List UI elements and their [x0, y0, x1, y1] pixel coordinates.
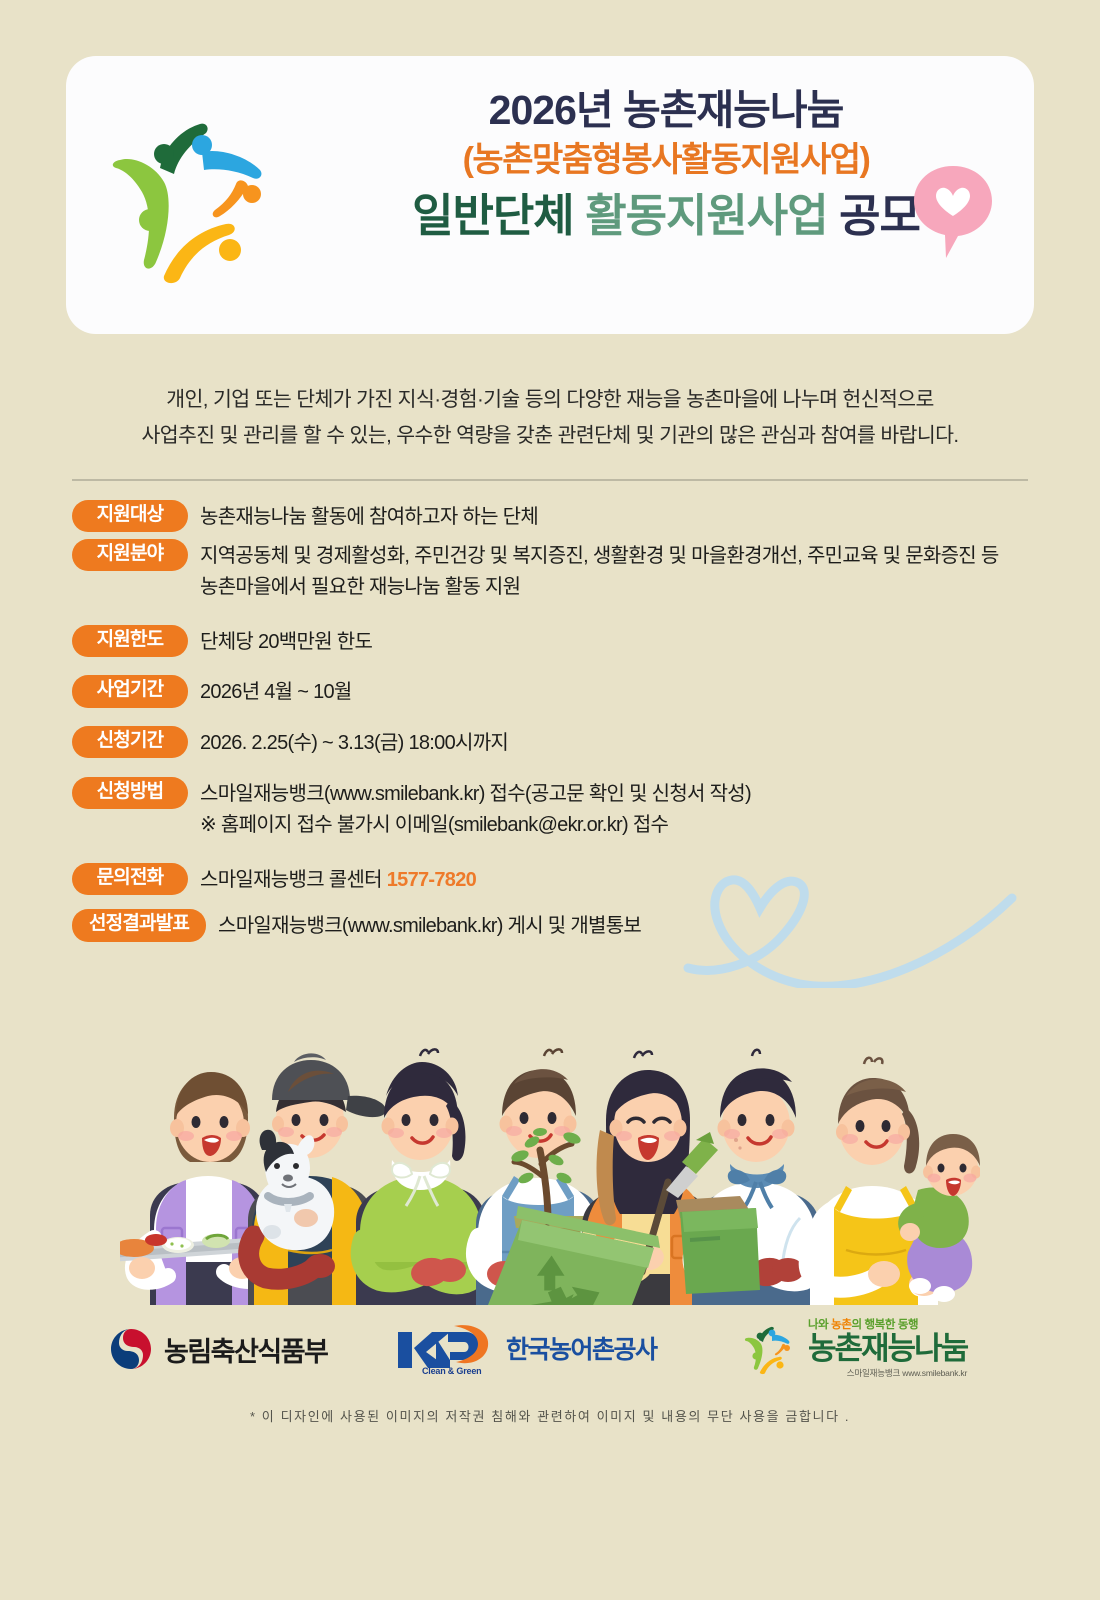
row-limit-text: 단체당 20백만원 한도 — [200, 625, 372, 658]
intro-line-2: 사업추진 및 관리를 할 수 있는, 우수한 역량을 갖춘 관련단체 및 기관의… — [80, 418, 1020, 454]
smile-logo-text-group: 나와 농촌의 행복한 동행 농촌재능나눔 스마일재능뱅크 www.smileba… — [808, 1316, 967, 1379]
smile-tagline-pre: 나와 — [808, 1319, 831, 1331]
star-people-icon — [742, 1317, 804, 1379]
title-line-2: (농촌맞춤형봉사활동지원사업) — [316, 136, 1016, 185]
badge-limit: 지원한도 — [72, 625, 188, 657]
row-apply-period: 신청기간 2026. 2.25(수) ~ 3.13(금) 18:00시까지 — [72, 726, 1032, 759]
badge-contact: 문의전화 — [72, 863, 188, 895]
divider — [72, 479, 1028, 481]
row-contact-prefix: 스마일재능뱅크 콜센터 — [200, 869, 387, 891]
badge-apply-method: 신청방법 — [72, 777, 188, 809]
title-line-3-part-1: 일반단체 — [412, 190, 574, 241]
header-card: 2026년 농촌재능나눔 (농촌맞춤형봉사활동지원사업) 일반단체 활동지원사업… — [66, 56, 1034, 334]
cardboard-bin — [676, 1196, 760, 1294]
row-field-text: 지역공동체 및 경제활성화, 주민건강 및 복지증진, 생활환경 및 마을환경개… — [200, 539, 999, 603]
row-apply-method-line-2: ※ 홈페이지 접수 불가시 이메일(smilebank@ekr.or.kr) 접… — [200, 811, 751, 841]
heart-speech-bubble-icon — [912, 164, 994, 260]
row-contact-text: 스마일재능뱅크 콜센터 1577-7820 — [200, 863, 476, 896]
contact-phone-number[interactable]: 1577-7820 — [387, 869, 476, 891]
smile-name: 농촌재능나눔 — [808, 1333, 967, 1364]
badge-period: 사업기간 — [72, 675, 188, 707]
logo-ekr: Clean & Green 한국농어촌공사 — [392, 1318, 657, 1378]
disclaimer-text: * 이 디자인에 사용된 이미지의 저작권 침해와 관련하여 이미지 및 내용의… — [0, 1406, 1100, 1425]
volunteer-group-illustration — [120, 1000, 980, 1305]
row-apply-method-line-1: 스마일재능뱅크(www.smilebank.kr) 접수(공고문 확인 및 신청… — [200, 783, 751, 805]
star-people-icon — [102, 90, 310, 298]
row-apply-method-text: 스마일재능뱅크(www.smilebank.kr) 접수(공고문 확인 및 신청… — [200, 777, 751, 841]
hand-drawn-heart-line-icon — [660, 858, 1020, 988]
ekr-name: 한국농어촌공사 — [506, 1330, 657, 1366]
kr-mark-icon: Clean & Green — [392, 1318, 498, 1378]
taegeuk-mark-icon — [108, 1326, 154, 1372]
row-period: 사업기간 2026년 4월 ~ 10월 — [72, 675, 1032, 708]
row-target: 지원대상 농촌재능나눔 활동에 참여하고자 하는 단체 — [72, 500, 1032, 533]
row-result-text: 스마일재능뱅크(www.smilebank.kr) 게시 및 개별통보 — [218, 909, 641, 942]
row-limit: 지원한도 단체당 20백만원 한도 — [72, 625, 1032, 658]
intro-line-1: 개인, 기업 또는 단체가 가진 지식·경험·기술 등의 다양한 재능을 농촌마… — [80, 382, 1020, 418]
row-apply-method: 신청방법 스마일재능뱅크(www.smilebank.kr) 접수(공고문 확인… — [72, 777, 1032, 841]
title-line-3-part-2: 활동지원사업 — [585, 190, 827, 241]
logo-smile-talent-bank: 나와 농촌의 행복한 동행 농촌재능나눔 스마일재능뱅크 www.smileba… — [742, 1316, 967, 1379]
ekr-tagline: Clean & Green — [422, 1366, 481, 1376]
footer-logos: 농림축산식품부 Clean & Green 한국농어촌공사 — [0, 1318, 1100, 1418]
badge-field: 지원분야 — [72, 539, 188, 571]
row-field-line-1: 지역공동체 및 경제활성화, 주민건강 및 복지증진, 생활환경 및 마을환경개… — [200, 545, 999, 567]
title-line-3-part-3: 공모 — [839, 190, 920, 241]
header-title-block: 2026년 농촌재능나눔 (농촌맞춤형봉사활동지원사업) 일반단체 활동지원사업… — [316, 84, 1016, 245]
smile-tagline: 나와 농촌의 행복한 동행 — [808, 1316, 967, 1332]
intro-paragraph: 개인, 기업 또는 단체가 가진 지식·경험·기술 등의 다양한 재능을 농촌마… — [80, 382, 1020, 454]
row-target-text: 농촌재능나눔 활동에 참여하고자 하는 단체 — [200, 500, 538, 533]
logo-mafra: 농림축산식품부 — [108, 1326, 327, 1372]
smile-url: 스마일재능뱅크 www.smilebank.kr — [808, 1367, 967, 1379]
figure-3 — [356, 1049, 486, 1305]
mafra-name: 농림축산식품부 — [164, 1330, 327, 1369]
title-line-1: 2026년 농촌재능나눔 — [316, 84, 1016, 136]
row-apply-period-text: 2026. 2.25(수) ~ 3.13(금) 18:00시까지 — [200, 726, 508, 759]
smile-tagline-post: 의 행복한 동행 — [852, 1319, 919, 1331]
smile-tagline-accent: 농촌 — [831, 1319, 851, 1331]
row-field: 지원분야 지역공동체 및 경제활성화, 주민건강 및 복지증진, 생활환경 및 … — [72, 539, 1032, 603]
badge-target: 지원대상 — [72, 500, 188, 532]
row-field-line-2: 농촌마을에서 필요한 재능나눔 활동 지원 — [200, 573, 999, 603]
title-line-3: 일반단체 활동지원사업 공모 — [316, 186, 1016, 245]
badge-apply-period: 신청기간 — [72, 726, 188, 758]
badge-result: 선정결과발표 — [72, 909, 206, 941]
row-period-text: 2026년 4월 ~ 10월 — [200, 675, 352, 708]
